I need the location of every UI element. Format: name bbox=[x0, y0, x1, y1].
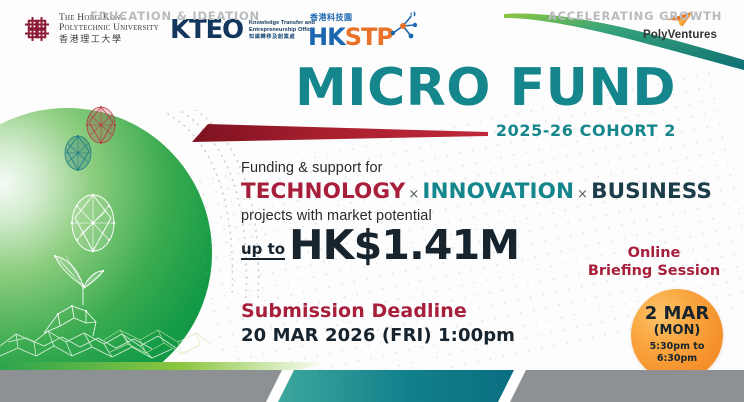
briefing-time: 5:30pm to 6:30pm bbox=[631, 341, 723, 366]
pillar-separator-2: × bbox=[574, 187, 591, 202]
briefing-block: Online Briefing Session 2 MAR (MON) 5:30… bbox=[578, 245, 730, 280]
stage-item-accelerating-growth[interactable]: ACCELERATING GROWTH bbox=[520, 0, 744, 32]
polyu-knot-icon bbox=[22, 14, 52, 44]
pillars-line: TECHNOLOGY×INNOVATION×BUSINESS bbox=[241, 179, 712, 204]
funding-amount-block: up to HK$1.41M bbox=[241, 226, 519, 265]
deadline-block: Submission Deadline 20 MAR 2026 (FRI) 1:… bbox=[241, 300, 515, 346]
stage-label-education-ideation: EDUCATION & IDEATION bbox=[90, 9, 260, 23]
amount-value: HK$1.41M bbox=[289, 226, 519, 265]
deadline-title: Submission Deadline bbox=[241, 300, 515, 322]
polyu-chinese: 香港理工大學 bbox=[59, 35, 159, 44]
description-block: Funding & support for TECHNOLOGY×INNOVAT… bbox=[241, 160, 712, 224]
pillar-separator-1: × bbox=[405, 187, 422, 202]
briefing-day: 2 MAR bbox=[645, 305, 710, 324]
micro-fund-poster: The Hong Kong Polytechnic University 香港理… bbox=[0, 0, 744, 402]
briefing-title: Online Briefing Session bbox=[578, 245, 730, 280]
deadline-date: 20 MAR 2026 (FRI) 1:00pm bbox=[241, 325, 515, 346]
briefing-dayofweek: (MON) bbox=[654, 323, 701, 339]
amount-prefix: up to bbox=[241, 242, 285, 261]
briefing-title-line2: Briefing Session bbox=[578, 263, 730, 281]
green-accent-bar bbox=[0, 362, 360, 370]
briefing-date-badge: 2 MAR (MON) 5:30pm to 6:30pm bbox=[631, 289, 723, 381]
stage-label-seeding: SEEDING bbox=[374, 9, 436, 23]
stage-item-education-ideation[interactable]: EDUCATION & IDEATION bbox=[60, 0, 290, 32]
page-title: MICRO FUND bbox=[295, 62, 676, 114]
pillar-business: BUSINESS bbox=[591, 179, 712, 204]
funding-line: Funding & support for bbox=[241, 160, 712, 176]
kteo-desc-chinese: 知識轉移及創業處 bbox=[249, 34, 315, 40]
title-block: MICRO FUND 2025-26 COHORT 2 bbox=[295, 62, 676, 140]
stage-item-seeding[interactable]: SEEDING bbox=[290, 0, 520, 32]
pillar-technology: TECHNOLOGY bbox=[241, 179, 405, 204]
briefing-title-line1: Online bbox=[578, 245, 730, 263]
stage-progress-bar bbox=[0, 370, 744, 402]
cohort-subtitle: 2025-26 COHORT 2 bbox=[295, 121, 676, 140]
pillar-innovation: INNOVATION bbox=[422, 179, 574, 204]
stage-label-accelerating-growth: ACCELERATING GROWTH bbox=[548, 9, 722, 23]
